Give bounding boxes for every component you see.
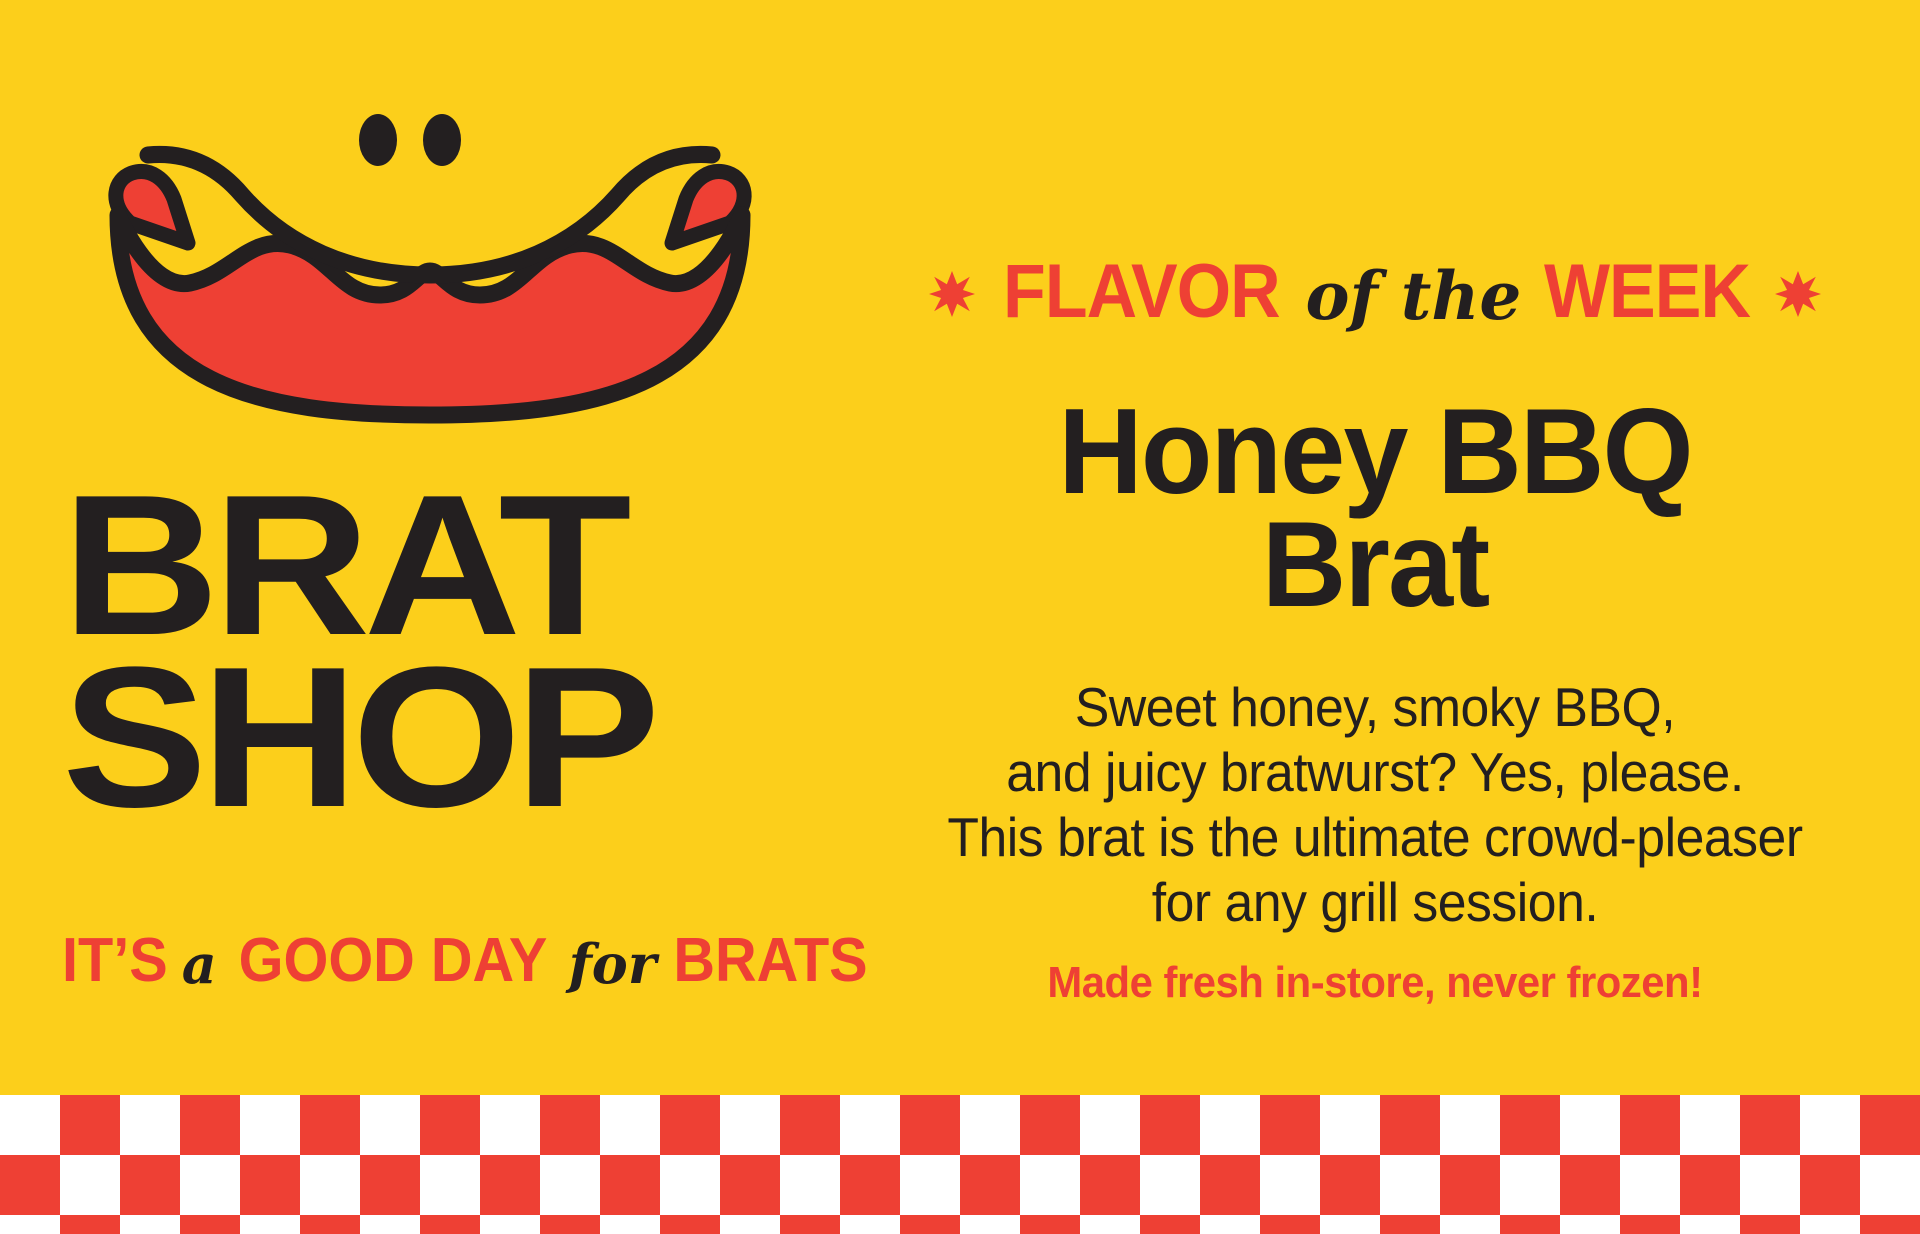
- flavor-title: Honey BBQ Brat: [852, 395, 1898, 622]
- feature-panel: FLAVOR of the WEEK Honey BBQ Brat Sweet …: [830, 0, 1920, 1095]
- tagline-script-for: for: [559, 932, 667, 996]
- starburst-icon-right: [1775, 271, 1821, 317]
- description-line: for any grill session.: [863, 870, 1888, 935]
- flavor-description: Sweet honey, smoky BBQ, and juicy bratwu…: [863, 675, 1888, 935]
- flavor-of-the-week-header: FLAVOR of the WEEK: [830, 248, 1920, 335]
- brand-tagline: IT’S a GOOD DAY for BRATS: [58, 925, 875, 996]
- description-line: Sweet honey, smoky BBQ,: [863, 675, 1888, 740]
- flavor-title-line-1: Honey BBQ: [852, 395, 1898, 508]
- header-word-week: WEEK: [1544, 248, 1750, 335]
- flavor-title-line-2: Brat: [852, 508, 1898, 621]
- freshness-footnote: Made fresh in-store, never frozen!: [857, 958, 1893, 1008]
- header-script-ofthe: of the: [1291, 257, 1535, 335]
- brand-panel: BRAT SHOP IT’S a GOOD DAY for BRATS: [0, 0, 830, 1095]
- tagline-part-its: IT’S: [62, 925, 168, 996]
- smiling-brat-hotdog-icon: [70, 95, 790, 425]
- starburst-icon-left: [929, 271, 975, 317]
- tagline-part-goodday: GOOD DAY: [238, 925, 547, 996]
- checkerboard-footer: [0, 1095, 1920, 1234]
- description-line: and juicy bratwurst? Yes, please.: [863, 740, 1888, 805]
- brand-wordmark: BRAT SHOP: [62, 480, 822, 824]
- tagline-script-a: a: [172, 932, 227, 996]
- header-word-flavor: FLAVOR: [1003, 248, 1280, 335]
- description-line: This brat is the ultimate crowd-pleaser: [863, 805, 1888, 870]
- flavor-of-the-week-poster: BRAT SHOP IT’S a GOOD DAY for BRATS FLAV…: [0, 0, 1920, 1234]
- wordmark-line-shop: SHOP: [62, 652, 890, 824]
